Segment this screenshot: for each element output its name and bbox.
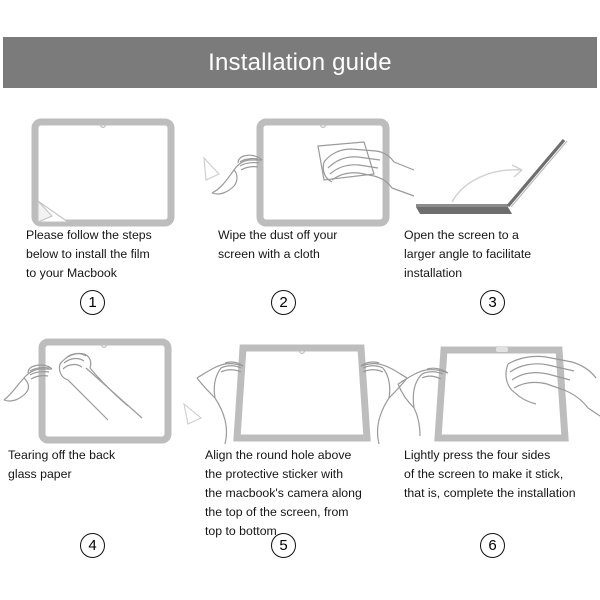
device-frame <box>438 350 565 438</box>
device-screen <box>245 355 359 431</box>
laptop-lid <box>508 140 567 207</box>
step-number-3-label: 3 <box>488 295 496 310</box>
step-number-2: 2 <box>271 290 296 315</box>
step-3-caption: Open the screen to a larger angle to fac… <box>404 226 584 283</box>
step-5-illustration <box>205 338 400 446</box>
step-1: Please follow the steps below to install… <box>26 118 221 283</box>
device-screen <box>446 357 557 431</box>
installation-guide-page: Installation guide Please follow the ste… <box>0 0 600 600</box>
step-number-3: 3 <box>480 290 505 315</box>
step-number-1: 1 <box>80 290 105 315</box>
step-4: Tearing off the back glass paper <box>8 338 203 484</box>
step-number-1-label: 1 <box>88 295 96 310</box>
step-number-5-label: 5 <box>279 538 287 553</box>
device-screen <box>42 129 165 217</box>
header-banner: Installation guide <box>3 37 597 88</box>
rotation-arrow-icon <box>452 165 522 202</box>
step-number-2-label: 2 <box>279 295 287 310</box>
step-4-illustration <box>8 338 203 446</box>
step-number-6-label: 6 <box>488 538 496 553</box>
laptop-base <box>416 204 512 214</box>
page-title: Installation guide <box>208 51 392 75</box>
step-number-4: 4 <box>80 533 105 558</box>
step-3-illustration <box>404 118 599 226</box>
step-number-6: 6 <box>480 533 505 558</box>
step-3: Open the screen to a larger angle to fac… <box>404 118 599 283</box>
step-2-illustration <box>218 118 413 226</box>
step-1-caption: Please follow the steps below to install… <box>26 226 206 283</box>
film-sheet-hint <box>184 404 201 424</box>
left-hand-gripping-icon <box>212 155 262 194</box>
step-4-caption: Tearing off the back glass paper <box>8 446 183 484</box>
camera-dot-icon <box>496 347 508 352</box>
step-2: Wipe the dust off your screen with a clo… <box>218 118 413 264</box>
step-5-caption: Align the round hole above the protectiv… <box>205 446 395 541</box>
step-6-illustration <box>404 338 599 446</box>
step-number-4-label: 4 <box>88 538 96 553</box>
device-frame <box>237 348 367 438</box>
step-2-caption: Wipe the dust off your screen with a clo… <box>218 226 398 264</box>
step-6-caption: Lightly press the four sides of the scre… <box>404 446 599 503</box>
step-5: Align the round hole above the protectiv… <box>205 338 400 541</box>
step-number-5: 5 <box>271 533 296 558</box>
film-sheet-hint <box>204 158 219 180</box>
step-6: Lightly press the four sides of the scre… <box>404 338 599 503</box>
step-1-illustration <box>26 118 221 226</box>
